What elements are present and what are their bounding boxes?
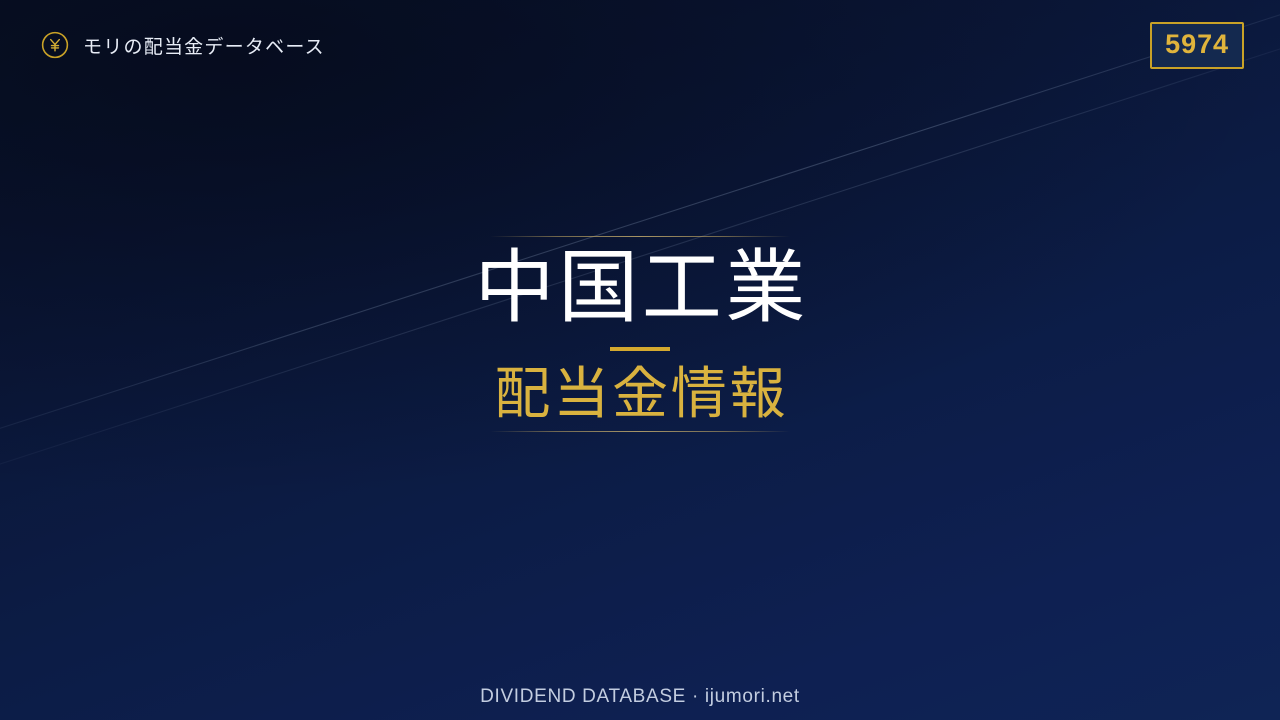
site-header: モリの配当金データベース 5974 (0, 0, 1280, 90)
brand-title: モリの配当金データベース (83, 32, 325, 59)
gold-divider (610, 347, 670, 351)
yen-circle-icon (40, 30, 70, 60)
section-label: 配当金情報 (492, 363, 789, 425)
hero-rule-bottom (490, 431, 790, 432)
company-name: 中国工業 (471, 243, 809, 333)
presentation-slide: モリの配当金データベース 5974 中国工業 配当金情報 DIVIDEND DA… (0, 0, 1280, 720)
brand[interactable]: モリの配当金データベース (40, 30, 325, 60)
hero-block: 中国工業 配当金情報 (0, 236, 1280, 432)
hero-rule-top (490, 236, 790, 237)
footer-text: DIVIDEND DATABASE · ijumori.net (480, 686, 800, 707)
site-footer: DIVIDEND DATABASE · ijumori.net (0, 686, 1280, 708)
ticker-badge: 5974 (1150, 22, 1244, 69)
